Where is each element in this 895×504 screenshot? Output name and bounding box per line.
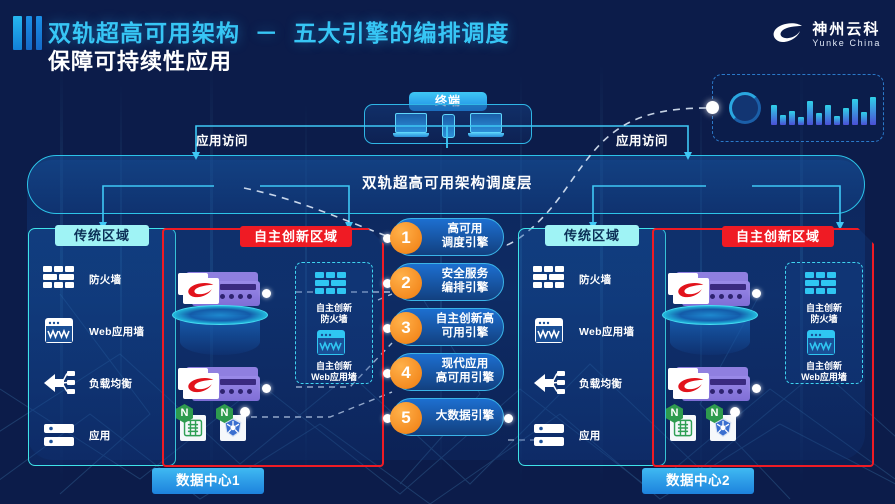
service-label: 防火墙 bbox=[579, 272, 611, 287]
vendor-swirl-icon bbox=[186, 281, 216, 301]
innovation-zone-title-2: 自主创新区域 bbox=[722, 226, 834, 247]
access-label-right: 应用访问 bbox=[616, 130, 668, 149]
appliance-connector-dot bbox=[262, 384, 271, 393]
vendor-swirl-icon bbox=[676, 376, 706, 396]
engine-label-line1: 大数据引擎 bbox=[436, 410, 495, 422]
firewall-icon bbox=[804, 270, 844, 300]
innovation-appliance-top-2[interactable] bbox=[668, 272, 750, 306]
service-application-2[interactable]: 应用 bbox=[532, 420, 601, 450]
swirl-logo-icon bbox=[771, 22, 805, 48]
scheduling-layer-title: 双轨超高可用架构调度层 bbox=[362, 172, 533, 193]
appliance-logo-plate bbox=[183, 278, 219, 304]
engine-number-badge: 4 bbox=[390, 357, 422, 389]
traditional-zone-title-2: 传统区域 bbox=[545, 225, 639, 246]
service-waf-1[interactable]: Web应用墙 bbox=[42, 316, 144, 346]
page-title-line2: 保障可持续性应用 bbox=[48, 44, 232, 76]
laptop-icon bbox=[393, 113, 429, 138]
engine-label-line2: 可用引擎 bbox=[442, 327, 489, 339]
innovation-appliance-top-1[interactable] bbox=[178, 272, 260, 306]
waf-icon bbox=[532, 316, 566, 346]
service-label: 防火墙 bbox=[89, 272, 121, 287]
innovation-inner-label-line2: 防火墙 bbox=[810, 314, 837, 324]
waf-icon bbox=[314, 328, 354, 358]
appliance-logo-plate bbox=[673, 278, 709, 304]
service-load-balancer-2[interactable]: 负载均衡 bbox=[532, 368, 622, 398]
application-icon bbox=[42, 420, 76, 450]
engine-connector-dot-right bbox=[504, 414, 513, 423]
innovation-inner-label-line1: 自主创新 bbox=[316, 303, 352, 313]
page-title-line1: 双轨超高可用架构 － 五大引擎的编排调度 bbox=[48, 14, 510, 48]
analytics-card-connector-dot bbox=[706, 101, 719, 114]
engine-item-5[interactable]: 5 大数据引擎 bbox=[392, 398, 504, 436]
nginx-network-node-2[interactable]: N bbox=[666, 404, 696, 438]
phone-icon bbox=[442, 114, 455, 138]
terminal-devices bbox=[364, 104, 532, 144]
engine-label: 高可用 调度引擎 bbox=[427, 223, 503, 251]
engine-list: 1 高可用 调度引擎 2 安全服务 编排引擎 3 自主创新高 可用引擎 4 现代… bbox=[392, 218, 504, 443]
engine-label-line2: 编排引擎 bbox=[442, 282, 489, 294]
engine-label: 大数据引擎 bbox=[427, 410, 503, 424]
access-label-left: 应用访问 bbox=[196, 130, 248, 149]
waf-icon bbox=[804, 328, 844, 358]
traditional-zone-title-1: 传统区域 bbox=[55, 225, 149, 246]
appliance-connector-dot bbox=[262, 289, 271, 298]
engine-label: 现代应用 高可用引擎 bbox=[427, 358, 503, 386]
innovation-inner-label-line2: 防火墙 bbox=[320, 314, 347, 324]
engine-label-line1: 安全服务 bbox=[442, 268, 489, 280]
donut-chart-icon bbox=[729, 92, 761, 124]
service-label: Web应用墙 bbox=[579, 324, 634, 339]
engine-label-line2: 调度引擎 bbox=[442, 237, 489, 249]
engine-item-4[interactable]: 4 现代应用 高可用引擎 bbox=[392, 353, 504, 391]
engine-label: 自主创新高 可用引擎 bbox=[427, 313, 503, 341]
appliance-logo-plate bbox=[673, 373, 709, 399]
appliance-connector-dot bbox=[752, 384, 761, 393]
appliance-connector-dot bbox=[752, 289, 761, 298]
service-firewall-2[interactable]: 防火墙 bbox=[532, 264, 611, 294]
application-icon bbox=[532, 420, 566, 450]
innovation-zone-title-1: 自主创新区域 bbox=[240, 226, 352, 247]
datacenter-label-2: 数据中心2 bbox=[642, 468, 754, 494]
service-waf-2[interactable]: Web应用墙 bbox=[532, 316, 634, 346]
innovation-appliance-bottom-1[interactable] bbox=[178, 367, 260, 401]
bar-chart-icon bbox=[771, 91, 876, 125]
load-balancer-icon bbox=[42, 368, 76, 398]
firewall-icon bbox=[532, 264, 566, 294]
innovation-inner-label-line1: 自主创新 bbox=[806, 361, 842, 371]
innovation-inner-label-line1: 自主创新 bbox=[806, 303, 842, 313]
load-balancer-icon bbox=[532, 368, 566, 398]
nginx-k8s-node-1[interactable]: N bbox=[216, 404, 246, 438]
engine-item-3[interactable]: 3 自主创新高 可用引擎 bbox=[392, 308, 504, 346]
innovation-inner-label: 自主创新 Web应用墙 bbox=[311, 361, 357, 383]
header-accent-bars bbox=[13, 16, 42, 50]
slide-canvas: 双轨超高可用架构 － 五大引擎的编排调度 保障可持续性应用 神州云科 Yunke… bbox=[0, 0, 895, 504]
engine-number-badge: 1 bbox=[390, 222, 422, 254]
engine-label: 安全服务 编排引擎 bbox=[427, 268, 503, 296]
firewall-icon bbox=[42, 264, 76, 294]
appliance-logo-plate bbox=[183, 373, 219, 399]
engine-label-line1: 现代应用 bbox=[442, 358, 489, 370]
appliance-pedestal-2 bbox=[662, 305, 758, 335]
firewall-icon bbox=[314, 270, 354, 300]
header: 双轨超高可用架构 － 五大引擎的编排调度 保障可持续性应用 神州云科 Yunke… bbox=[0, 0, 895, 72]
innovation-inner-label: 自主创新 防火墙 bbox=[806, 303, 842, 325]
service-label: 负载均衡 bbox=[89, 376, 132, 391]
innovation-inner-group-1: 自主创新 防火墙 自主创新 Web应用墙 bbox=[295, 262, 373, 384]
innovation-inner-group-2: 自主创新 防火墙 自主创新 Web应用墙 bbox=[785, 262, 863, 384]
vendor-swirl-icon bbox=[676, 281, 706, 301]
brand-name-cn: 神州云科 bbox=[812, 22, 881, 38]
service-firewall-1[interactable]: 防火墙 bbox=[42, 264, 121, 294]
innovation-inner-label: 自主创新 防火墙 bbox=[316, 303, 352, 325]
analytics-card bbox=[712, 74, 884, 142]
service-load-balancer-1[interactable]: 负载均衡 bbox=[42, 368, 132, 398]
engine-item-1[interactable]: 1 高可用 调度引擎 bbox=[392, 218, 504, 256]
service-label: 应用 bbox=[579, 428, 601, 443]
datacenter-label-1: 数据中心1 bbox=[152, 468, 264, 494]
waf-icon bbox=[42, 316, 76, 346]
innovation-inner-label-line2: Web应用墙 bbox=[801, 372, 847, 382]
engine-label-line2: 高可用引擎 bbox=[436, 372, 495, 384]
node-connector-dot bbox=[240, 407, 250, 417]
innovation-inner-label-line2: Web应用墙 bbox=[311, 372, 357, 382]
service-label: 负载均衡 bbox=[579, 376, 622, 391]
innovation-inner-label-line1: 自主创新 bbox=[316, 361, 352, 371]
service-label: Web应用墙 bbox=[89, 324, 144, 339]
nginx-k8s-node-2[interactable]: N bbox=[706, 404, 736, 438]
engine-number-badge: 3 bbox=[390, 312, 422, 344]
vendor-swirl-icon bbox=[186, 376, 216, 396]
brand-logo: 神州云科 Yunke China bbox=[771, 22, 881, 48]
engine-label-line1: 自主创新高 bbox=[436, 313, 495, 325]
innovation-appliance-bottom-2[interactable] bbox=[668, 367, 750, 401]
node-connector-dot bbox=[730, 407, 740, 417]
nginx-network-node-1[interactable]: N bbox=[176, 404, 206, 438]
innovation-inner-label: 自主创新 Web应用墙 bbox=[801, 361, 847, 383]
engine-label-line1: 高可用 bbox=[447, 223, 482, 235]
laptop-icon bbox=[468, 113, 504, 138]
service-label: 应用 bbox=[89, 428, 111, 443]
appliance-pedestal-1 bbox=[172, 305, 268, 335]
engine-number-badge: 2 bbox=[390, 267, 422, 299]
brand-name-en: Yunke China bbox=[812, 38, 881, 48]
engine-item-2[interactable]: 2 安全服务 编排引擎 bbox=[392, 263, 504, 301]
engine-number-badge: 5 bbox=[390, 402, 422, 434]
service-application-1[interactable]: 应用 bbox=[42, 420, 111, 450]
